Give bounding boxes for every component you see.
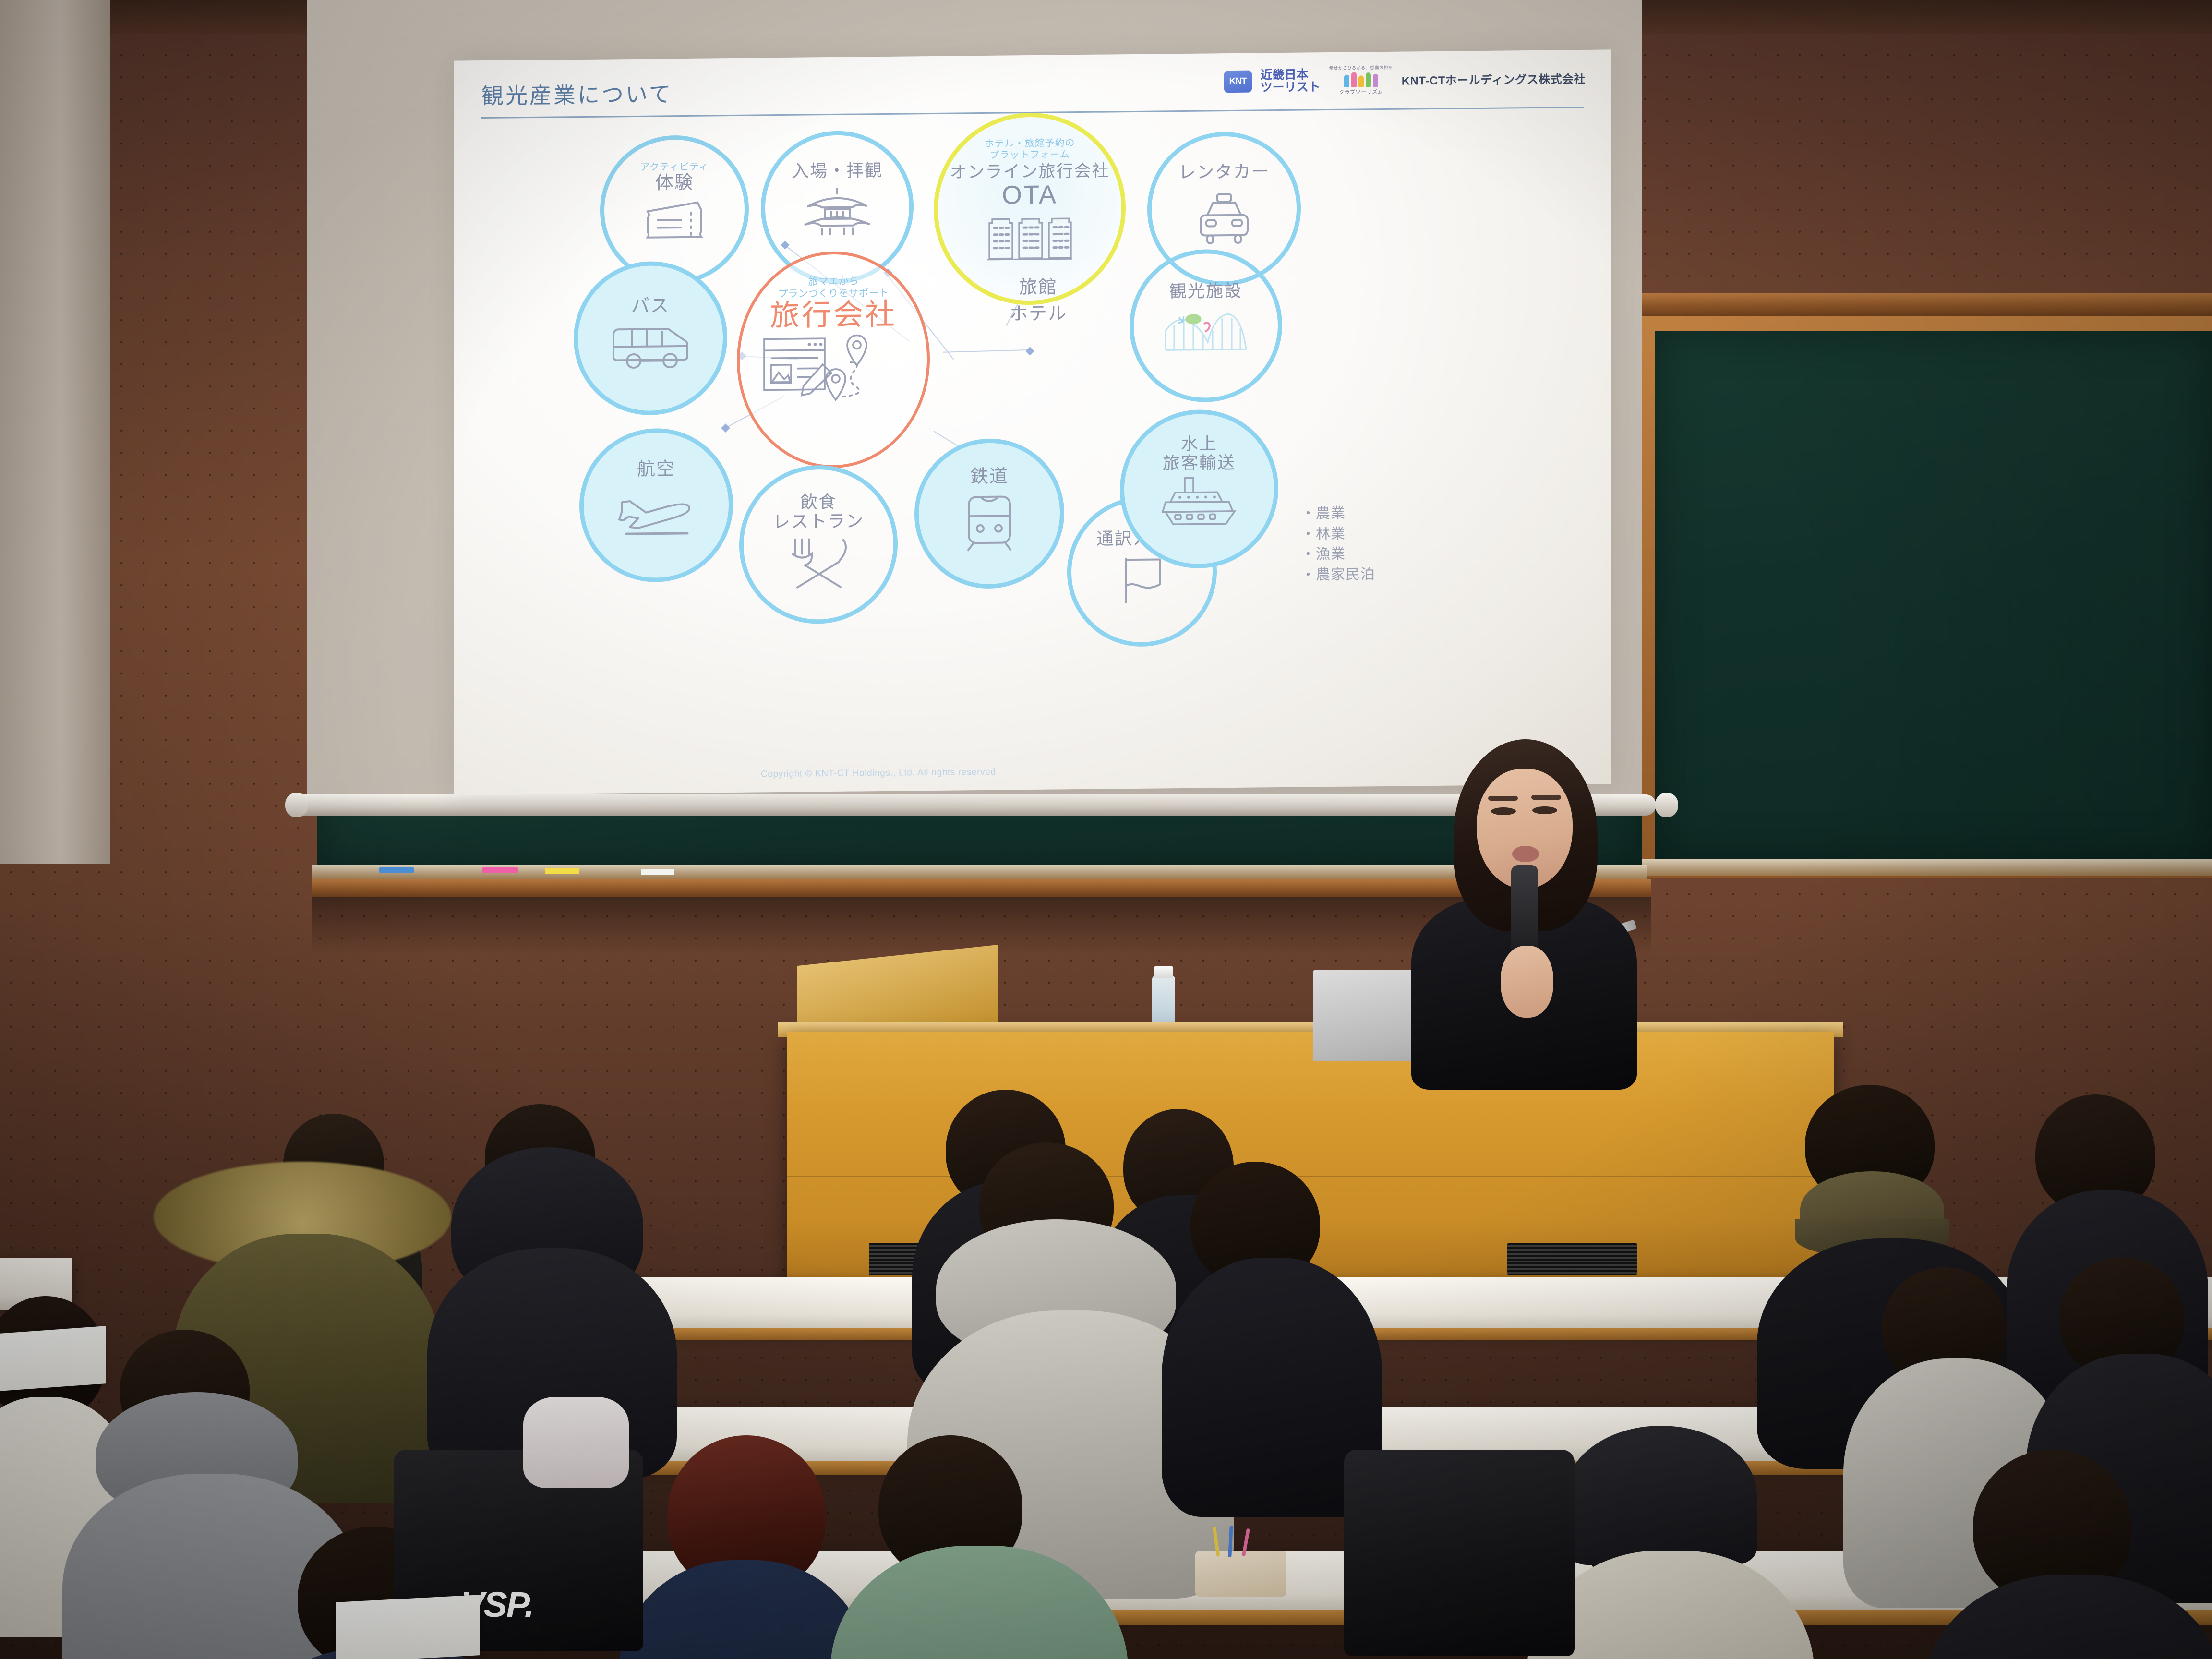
hub-title: 旅行会社 [770,299,897,332]
paper-sheet-left [0,1326,106,1391]
tourism-industry-diagram: アクティビティ 体験 入場・拝観 [454,121,1611,752]
pencil-case [1195,1551,1286,1597]
flag-icon [1116,554,1168,605]
slide-copyright: Copyright © KNT-CT Holdings., Ltd. All r… [761,767,996,780]
bullet-item: ・農業 [1301,503,1375,524]
connector-line [943,349,1030,353]
podium-vent-right [1507,1243,1637,1275]
backpack-right [1344,1450,1575,1656]
left-wall-pillar [0,0,110,864]
cutlery-icon [787,536,850,590]
buildings-icon [987,211,1072,262]
bubble-title: レンタカー [1178,162,1270,181]
slide-title: 観光産業について [481,77,673,110]
bullet-item: ・林業 [1301,524,1375,545]
water-bottle-cap [1154,966,1173,978]
wood-rail-upper-right [1642,293,2212,316]
bubble-water-transport[interactable]: 水上 旅客輸送 [1120,409,1278,569]
ota-abbr: OTA [1002,181,1058,209]
speaker-brow-left [1488,796,1518,801]
bubble-tourist-facility[interactable]: 観光施設 [1130,249,1282,403]
right-chalkboard [1655,331,2212,859]
club-tourism-logo: 幸せからひろがる、感動の旅を クラブツーリズム [1329,64,1393,96]
bubble-title: 体験 [655,173,694,193]
connector-node [1025,347,1034,355]
beanie-hat [1565,1426,1757,1565]
speaker-hand [1501,946,1553,1018]
bubble-title: バス [631,296,670,317]
chalk-white [641,869,674,875]
projected-slide: 観光産業について KNT 近畿日本 ツーリスト 幸せからひろがる、感動の旅を [454,49,1611,795]
chalk-pink [482,867,518,873]
bubble-railway[interactable]: 鉄道 [914,438,1064,589]
bubble-aviation[interactable]: 航空 [579,428,733,583]
hotel-title-line2: ホテル [1010,298,1067,325]
chalk-yellow [545,868,579,874]
hub-travel-agency[interactable]: 旅マエから プランづくりをサポート 旅行会社 [737,251,930,469]
ota-sub-line2: プラットフォーム [989,149,1070,161]
lecture-hall-screenshot: 観光産業について KNT 近畿日本 ツーリスト 幸せからひろがる、感動の旅を [0,0,2212,1659]
knt-badge-icon: KNT [1224,70,1252,93]
speaker [1402,739,1651,1075]
bubble-title: 入場・拝観 [792,161,883,180]
projection-screen: 観光産業について KNT 近畿日本 ツーリスト 幸せからひろがる、感動の旅を [307,0,1642,854]
right-chalk-tray [1642,859,2212,876]
bus-icon [611,324,690,369]
bubble-bus[interactable]: バス [574,261,727,416]
ota-name: オンライン旅行会社 [950,162,1109,182]
screen-roller-cap-right [1655,793,1678,817]
speaker-mouth [1512,846,1539,862]
airplane-icon [615,491,697,536]
rollercoaster-icon [1164,307,1248,354]
bullet-item: ・農家民泊 [1301,565,1375,586]
train-icon [963,493,1016,553]
corporate-name: KNT-CTホールディングス株式会社 [1402,70,1586,88]
browser-pencil-map-pin-icon [761,334,905,408]
club-figures-icon [1344,72,1378,87]
ship-icon [1159,476,1239,527]
club-name: クラブツーリズム [1339,88,1383,96]
knt-name-line2: ツーリスト [1261,81,1321,94]
chalk-blue [379,867,414,873]
ota-sub-line1: ホテル・旅館予約の [985,138,1075,150]
taxi-car-icon [1188,192,1260,245]
industry-bullet-list: ・農業 ・林業 ・漁業 ・農家民泊 [1301,503,1375,586]
screen-roller-cap-left [285,793,308,817]
plastic-bag [523,1397,629,1488]
paper-sheet-front [336,1595,480,1659]
bubble-title: 水上 旅客輸送 [1163,434,1236,473]
bubble-title: 飲食 レストラン [773,492,864,531]
bubble-activity-taiken[interactable]: アクティビティ 体験 [600,135,749,285]
bubble-title: 鉄道 [970,467,1009,487]
bubble-title: 観光施設 [1169,281,1242,301]
temple-icon [799,185,876,239]
hotel-title-line1: 旅館 [1019,272,1058,299]
bullet-item: ・漁業 [1301,544,1375,565]
logo-group: KNT 近畿日本 ツーリスト 幸せからひろがる、感動の旅を クラブツーリズム [1224,62,1586,97]
label-ryokan-hotel[interactable]: 旅館 ホテル [962,271,1115,325]
podium-seam [787,1176,1834,1177]
bubble-title: 航空 [637,459,675,480]
speaker-eye-right [1532,806,1557,814]
club-tagline: 幸せからひろがる、感動の旅を [1329,64,1393,71]
knt-wordmark: 近畿日本 ツーリスト [1261,68,1321,94]
bubble-restaurant[interactable]: 飲食 レストラン [739,465,898,625]
knt-name-line1: 近畿日本 [1261,68,1321,81]
speaker-eye-left [1491,807,1516,815]
water-bottle [1152,975,1175,1028]
bubble-sub: アクティビティ [640,161,709,173]
hub-sub-line1: 旅マエから [808,275,859,288]
speaker-brow-right [1531,795,1561,800]
ticket-icon [641,198,708,240]
